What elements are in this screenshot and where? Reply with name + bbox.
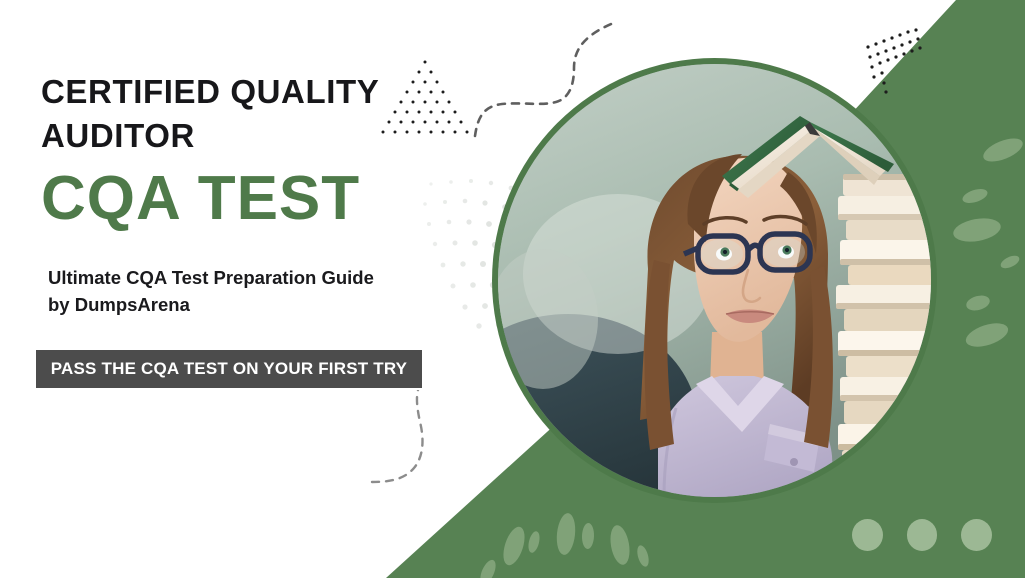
circle-dot-icon <box>852 519 883 551</box>
status-badge-label: PASS THE CQA TEST ON YOUR FIRST TRY <box>51 359 407 379</box>
exam-code-title: CQA TEST <box>41 168 360 230</box>
subtitle-text: Ultimate CQA Test Preparation Guide by D… <box>48 265 388 319</box>
bottom-dots-group <box>852 515 992 555</box>
status-badge: PASS THE CQA TEST ON YOUR FIRST TRY <box>36 350 422 388</box>
circle-dot-icon <box>907 519 938 551</box>
poster-canvas: CERTIFIED QUALITY AUDITOR CQA TEST Ultim… <box>0 0 1025 578</box>
page-title: CERTIFIED QUALITY AUDITOR <box>41 70 401 157</box>
hero-photo <box>498 64 931 497</box>
circle-dot-icon <box>961 519 992 551</box>
text-column: CERTIFIED QUALITY AUDITOR CQA TEST Ultim… <box>0 0 470 578</box>
